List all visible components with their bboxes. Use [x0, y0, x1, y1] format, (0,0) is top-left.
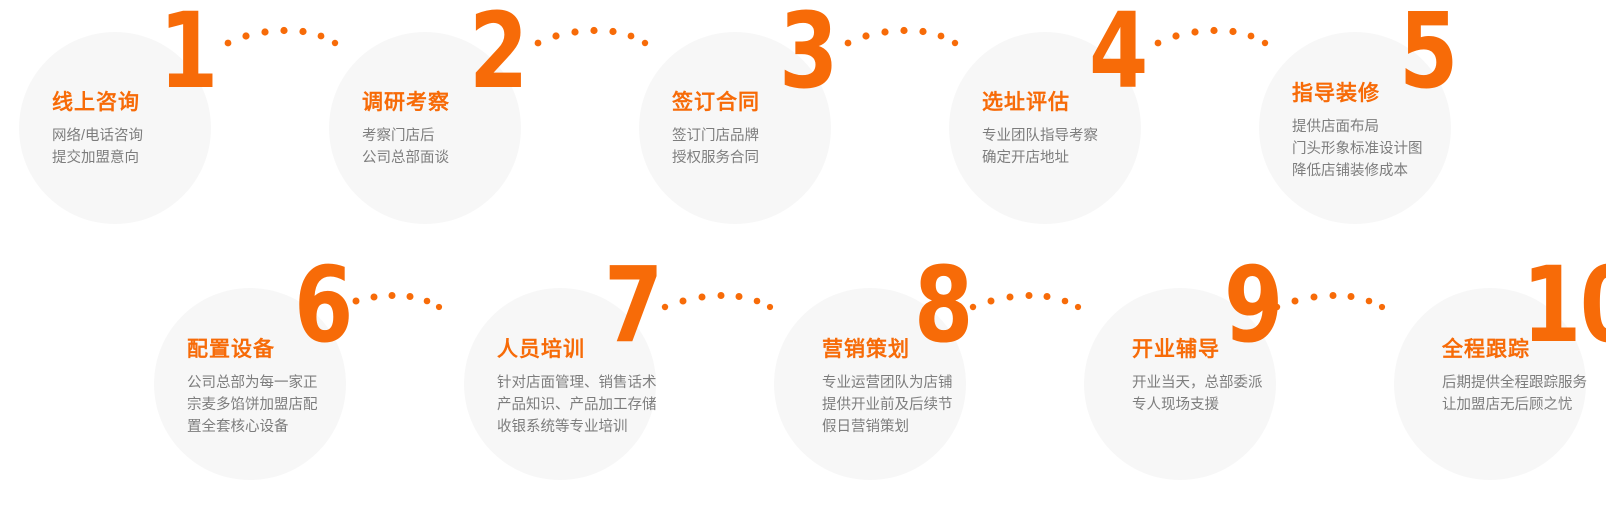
step-description-line: 提供店面布局	[1292, 116, 1522, 138]
connector-7-to-8-dots	[660, 280, 775, 312]
step-text-block: 签订合同 签订门店品牌 授权服务合同	[672, 90, 902, 169]
step-description: 公司总部为每一家正 宗麦多馅饼加盟店配 置全套核心设备	[187, 372, 417, 438]
step-text-block: 指导装修 提供店面布局 门头形象标准设计图 降低店铺装修成本	[1292, 81, 1522, 182]
connector-4-to-5-dots	[1152, 22, 1272, 52]
step-description: 签订门店品牌 授权服务合同	[672, 125, 902, 169]
step-description: 后期提供全程跟踪服务 让加盟店无后顾之忧	[1442, 372, 1606, 416]
step-description-line: 考察门店后	[362, 125, 592, 147]
step-title: 签订合同	[672, 90, 902, 115]
step-text-block: 选址评估 专业团队指导考察 确定开店地址	[982, 90, 1212, 169]
step-number-2: 2	[469, 0, 527, 103]
step-number-1: 1	[159, 0, 217, 103]
step-text-block: 配置设备 公司总部为每一家正 宗麦多馅饼加盟店配 置全套核心设备	[187, 337, 417, 438]
step-title: 指导装修	[1292, 81, 1522, 106]
step-title: 开业辅导	[1132, 337, 1362, 362]
step-text-block: 线上咨询 网络/电话咨询 提交加盟意向	[52, 90, 282, 169]
step-description-line: 门头形象标准设计图	[1292, 138, 1522, 160]
step-description: 开业当天，总部委派 专人现场支援	[1132, 372, 1362, 416]
step-description-line: 公司总部为每一家正	[187, 372, 417, 394]
step-text-block: 人员培训 针对店面管理、销售话术 产品知识、产品加工存储 收银系统等专业培训	[497, 337, 727, 438]
step-card-3[interactable]: 3 签订合同 签订门店品牌 授权服务合同	[639, 32, 831, 224]
step-description-line: 假日营销策划	[822, 416, 1052, 438]
step-title: 全程跟踪	[1442, 337, 1606, 362]
step-description-line: 专人现场支援	[1132, 394, 1362, 416]
step-description: 专业团队指导考察 确定开店地址	[982, 125, 1212, 169]
connector-1-to-2-dots	[222, 22, 342, 52]
step-description-line: 提供开业前及后续节	[822, 394, 1052, 416]
step-description-line: 收银系统等专业培训	[497, 416, 727, 438]
step-title: 人员培训	[497, 337, 727, 362]
step-card-5[interactable]: 5 指导装修 提供店面布局 门头形象标准设计图 降低店铺装修成本	[1259, 32, 1451, 224]
connector-8-to-9-dots	[968, 280, 1083, 312]
step-card-7[interactable]: 7 人员培训 针对店面管理、销售话术 产品知识、产品加工存储 收银系统等专业培训	[464, 288, 656, 480]
step-description-line: 让加盟店无后顾之忧	[1442, 394, 1606, 416]
step-description: 考察门店后 公司总部面谈	[362, 125, 592, 169]
step-card-4[interactable]: 4 选址评估 专业团队指导考察 确定开店地址	[949, 32, 1141, 224]
step-description-line: 宗麦多馅饼加盟店配	[187, 394, 417, 416]
step-text-block: 调研考察 考察门店后 公司总部面谈	[362, 90, 592, 169]
step-card-1[interactable]: 1 线上咨询 网络/电话咨询 提交加盟意向	[19, 32, 211, 224]
step-description: 专业运营团队为店铺 提供开业前及后续节 假日营销策划	[822, 372, 1052, 438]
step-card-2[interactable]: 2 调研考察 考察门店后 公司总部面谈	[329, 32, 521, 224]
step-description: 网络/电话咨询 提交加盟意向	[52, 125, 282, 169]
step-description: 提供店面布局 门头形象标准设计图 降低店铺装修成本	[1292, 116, 1522, 182]
step-description: 针对店面管理、销售话术 产品知识、产品加工存储 收银系统等专业培训	[497, 372, 727, 438]
franchise-process-infographic: 1 线上咨询 网络/电话咨询 提交加盟意向 2 调研考察 考察门店后 公司总部面…	[0, 0, 1606, 508]
step-description-line: 授权服务合同	[672, 147, 902, 169]
step-description-line: 确定开店地址	[982, 147, 1212, 169]
step-card-9[interactable]: 9 开业辅导 开业当天，总部委派 专人现场支援	[1084, 288, 1276, 480]
connector-9-to-10-dots	[1272, 280, 1387, 312]
step-text-block: 开业辅导 开业当天，总部委派 专人现场支援	[1132, 337, 1362, 416]
step-card-6[interactable]: 6 配置设备 公司总部为每一家正 宗麦多馅饼加盟店配 置全套核心设备	[154, 288, 346, 480]
step-description-line: 针对店面管理、销售话术	[497, 372, 727, 394]
step-description-line: 专业运营团队为店铺	[822, 372, 1052, 394]
step-description-line: 签订门店品牌	[672, 125, 902, 147]
step-text-block: 营销策划 专业运营团队为店铺 提供开业前及后续节 假日营销策划	[822, 337, 1052, 438]
step-title: 营销策划	[822, 337, 1052, 362]
step-description-line: 降低店铺装修成本	[1292, 160, 1522, 182]
step-description-line: 网络/电话咨询	[52, 125, 282, 147]
step-description-line: 产品知识、产品加工存储	[497, 394, 727, 416]
step-description-line: 置全套核心设备	[187, 416, 417, 438]
step-description-line: 专业团队指导考察	[982, 125, 1212, 147]
step-description-line: 后期提供全程跟踪服务	[1442, 372, 1606, 394]
step-description-line: 开业当天，总部委派	[1132, 372, 1362, 394]
step-title: 调研考察	[362, 90, 592, 115]
step-description-line: 提交加盟意向	[52, 147, 282, 169]
step-title: 选址评估	[982, 90, 1212, 115]
step-card-8[interactable]: 8 营销策划 专业运营团队为店铺 提供开业前及后续节 假日营销策划	[774, 288, 966, 480]
step-title: 配置设备	[187, 337, 417, 362]
step-description-line: 公司总部面谈	[362, 147, 592, 169]
connector-3-to-4-dots	[842, 22, 962, 52]
step-number-4: 4	[1089, 0, 1147, 103]
step-number-3: 3	[779, 0, 837, 103]
step-card-10[interactable]: 10 全程跟踪 后期提供全程跟踪服务 让加盟店无后顾之忧	[1394, 288, 1586, 480]
step-text-block: 全程跟踪 后期提供全程跟踪服务 让加盟店无后顾之忧	[1442, 337, 1606, 416]
step-title: 线上咨询	[52, 90, 282, 115]
connector-2-to-3-dots	[532, 22, 652, 52]
